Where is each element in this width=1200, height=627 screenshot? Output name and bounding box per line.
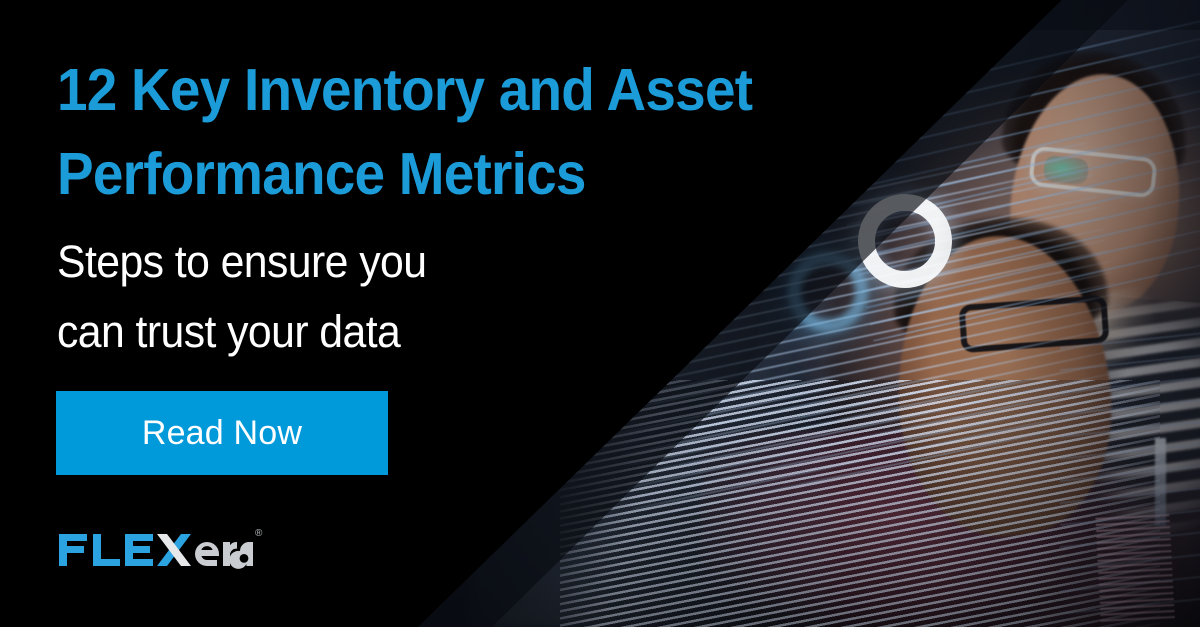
trademark-symbol: ® — [255, 528, 262, 539]
promo-banner: 12 Key Inventory and Asset Performance M… — [0, 0, 1200, 627]
read-now-button[interactable]: Read Now — [56, 391, 388, 475]
flexera-wordmark-icon — [57, 524, 253, 572]
page-title: 12 Key Inventory and Asset Performance M… — [57, 48, 820, 216]
subtitle: Steps to ensure you can trust your data — [57, 227, 646, 367]
flexera-logo[interactable]: ® — [57, 524, 262, 578]
